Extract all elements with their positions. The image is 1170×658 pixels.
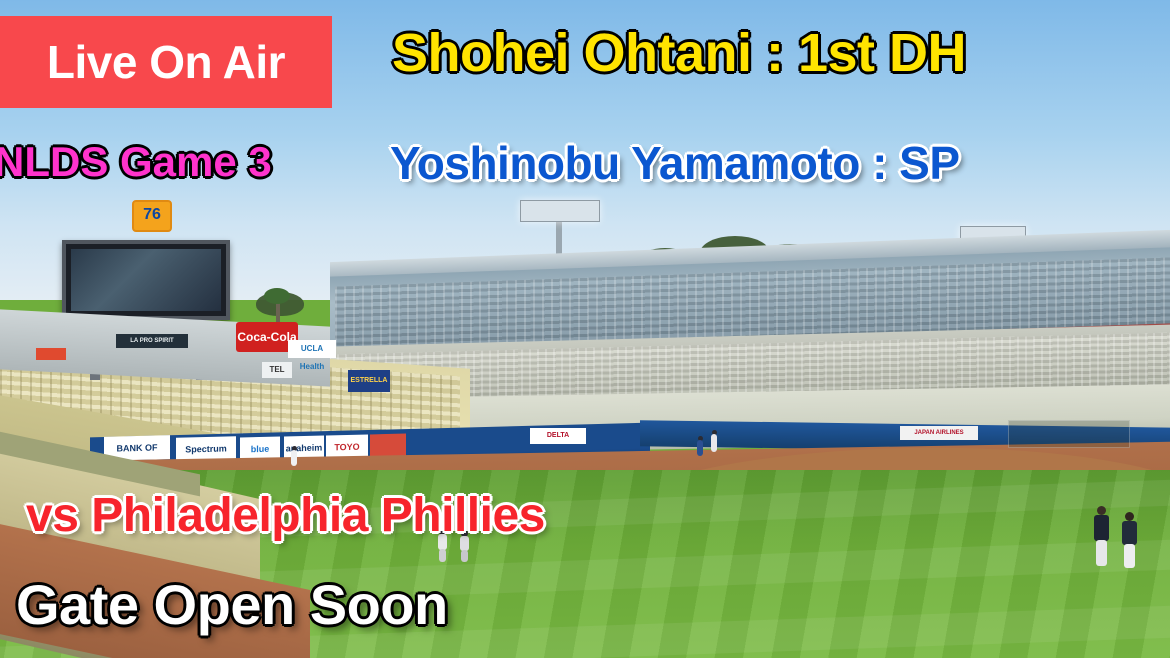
- pro-spirit-sign: LA PRO SPIRIT: [116, 334, 188, 348]
- live-on-air-badge: Live On Air: [0, 16, 332, 108]
- player-near-wall: [710, 430, 718, 452]
- series-label: NLDS Game 3: [0, 138, 272, 186]
- player-legs: [461, 550, 468, 562]
- player-body: [711, 434, 717, 452]
- estrella-sign: ESTRELLA: [348, 370, 390, 392]
- wall-ad-right: DELTA: [530, 428, 586, 444]
- batting-cage-netting: [1008, 420, 1130, 448]
- staff-body: [1094, 515, 1109, 541]
- gas-sign: 76: [132, 200, 172, 232]
- player-near-wall: [696, 436, 704, 456]
- headline-yamamoto: Yoshinobu Yamamoto : SP: [390, 136, 960, 190]
- live-on-air-label: Live On Air: [47, 35, 285, 89]
- player-body: [697, 440, 703, 456]
- staff-on-field: [1092, 506, 1110, 566]
- tel-sign: TEL: [262, 362, 292, 378]
- ucla-health-sign: UCLA Health: [288, 340, 336, 358]
- player-body: [291, 450, 297, 466]
- staff-head: [1125, 512, 1134, 521]
- scoreboard-screen: [71, 249, 221, 311]
- player-near-wall: [290, 446, 298, 466]
- wall-ad-right: JAPAN AIRLINES: [900, 426, 978, 440]
- player-legs: [439, 549, 446, 562]
- scoreboard: [62, 240, 230, 320]
- staff-body: [1122, 521, 1137, 545]
- staff-on-field: [1120, 512, 1138, 568]
- staff-legs: [1096, 540, 1107, 566]
- headline-ohtani: Shohei Ohtani : 1st DH: [392, 22, 966, 84]
- screenshot-root: 76 Coca-Cola UCLA Health TEL ESTRELLA LA…: [0, 0, 1170, 658]
- palm-fronds: [264, 288, 290, 304]
- staff-head: [1097, 506, 1106, 515]
- staff-legs: [1124, 544, 1135, 568]
- status-label: Gate Open Soon: [16, 572, 448, 637]
- pavilion-sign-small: [36, 348, 66, 360]
- light-bank: [520, 200, 600, 222]
- opponent-label: vs Philadelphia Phillies: [26, 488, 545, 543]
